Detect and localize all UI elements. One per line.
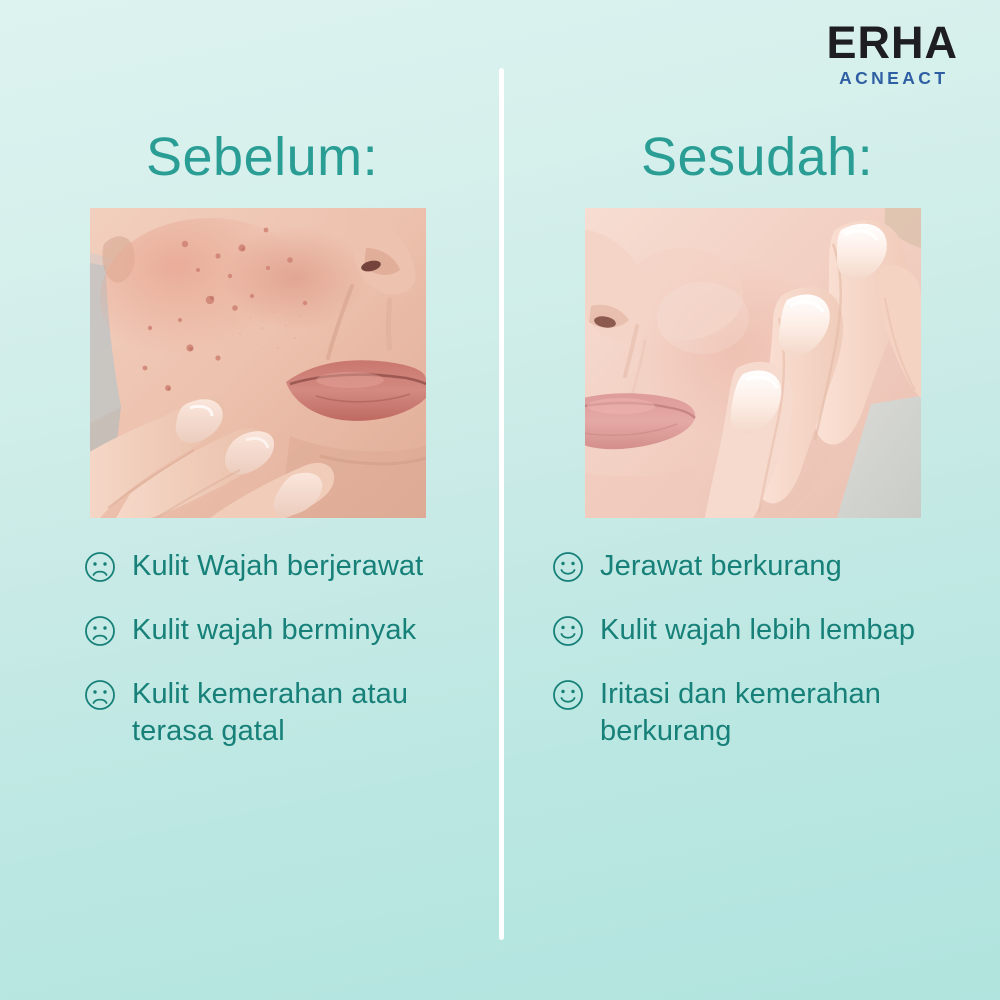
list-item: Kulit wajah lebih lembap	[552, 612, 972, 649]
smiley-face-icon	[552, 615, 584, 647]
sad-face-icon	[84, 615, 116, 647]
before-title: Sebelum:	[146, 126, 378, 188]
before-column: Sebelum:	[0, 0, 500, 1000]
list-item: Kulit Wajah berjerawat	[84, 548, 484, 585]
after-column: Sesudah:	[500, 0, 1000, 1000]
list-item: Iritasi dan kemerahan berkurang	[552, 676, 972, 750]
list-item-label: Kulit Wajah berjerawat	[132, 548, 423, 585]
after-photo	[585, 208, 921, 518]
list-item: Kulit kemerahan atau terasa gatal	[84, 676, 484, 750]
list-item: Jerawat berkurang	[552, 548, 972, 585]
before-bullet-list: Kulit Wajah berjerawat Kulit wajah bermi…	[84, 548, 484, 777]
after-bullet-list: Jerawat berkurang Kulit wajah lebih lemb…	[552, 548, 972, 777]
smiley-face-icon	[552, 551, 584, 583]
list-item: Kulit wajah berminyak	[84, 612, 484, 649]
comparison-layout: Sebelum:	[0, 0, 1000, 1000]
list-item-label: Kulit wajah berminyak	[132, 612, 416, 649]
list-item-label: Iritasi dan kemerahan berkurang	[600, 676, 972, 750]
sad-face-icon	[84, 679, 116, 711]
list-item-label: Jerawat berkurang	[600, 548, 842, 585]
sad-face-icon	[84, 551, 116, 583]
list-item-label: Kulit wajah lebih lembap	[600, 612, 915, 649]
smiley-face-icon	[552, 679, 584, 711]
before-photo	[90, 208, 426, 518]
after-title: Sesudah:	[641, 126, 873, 188]
list-item-label: Kulit kemerahan atau terasa gatal	[132, 676, 484, 750]
